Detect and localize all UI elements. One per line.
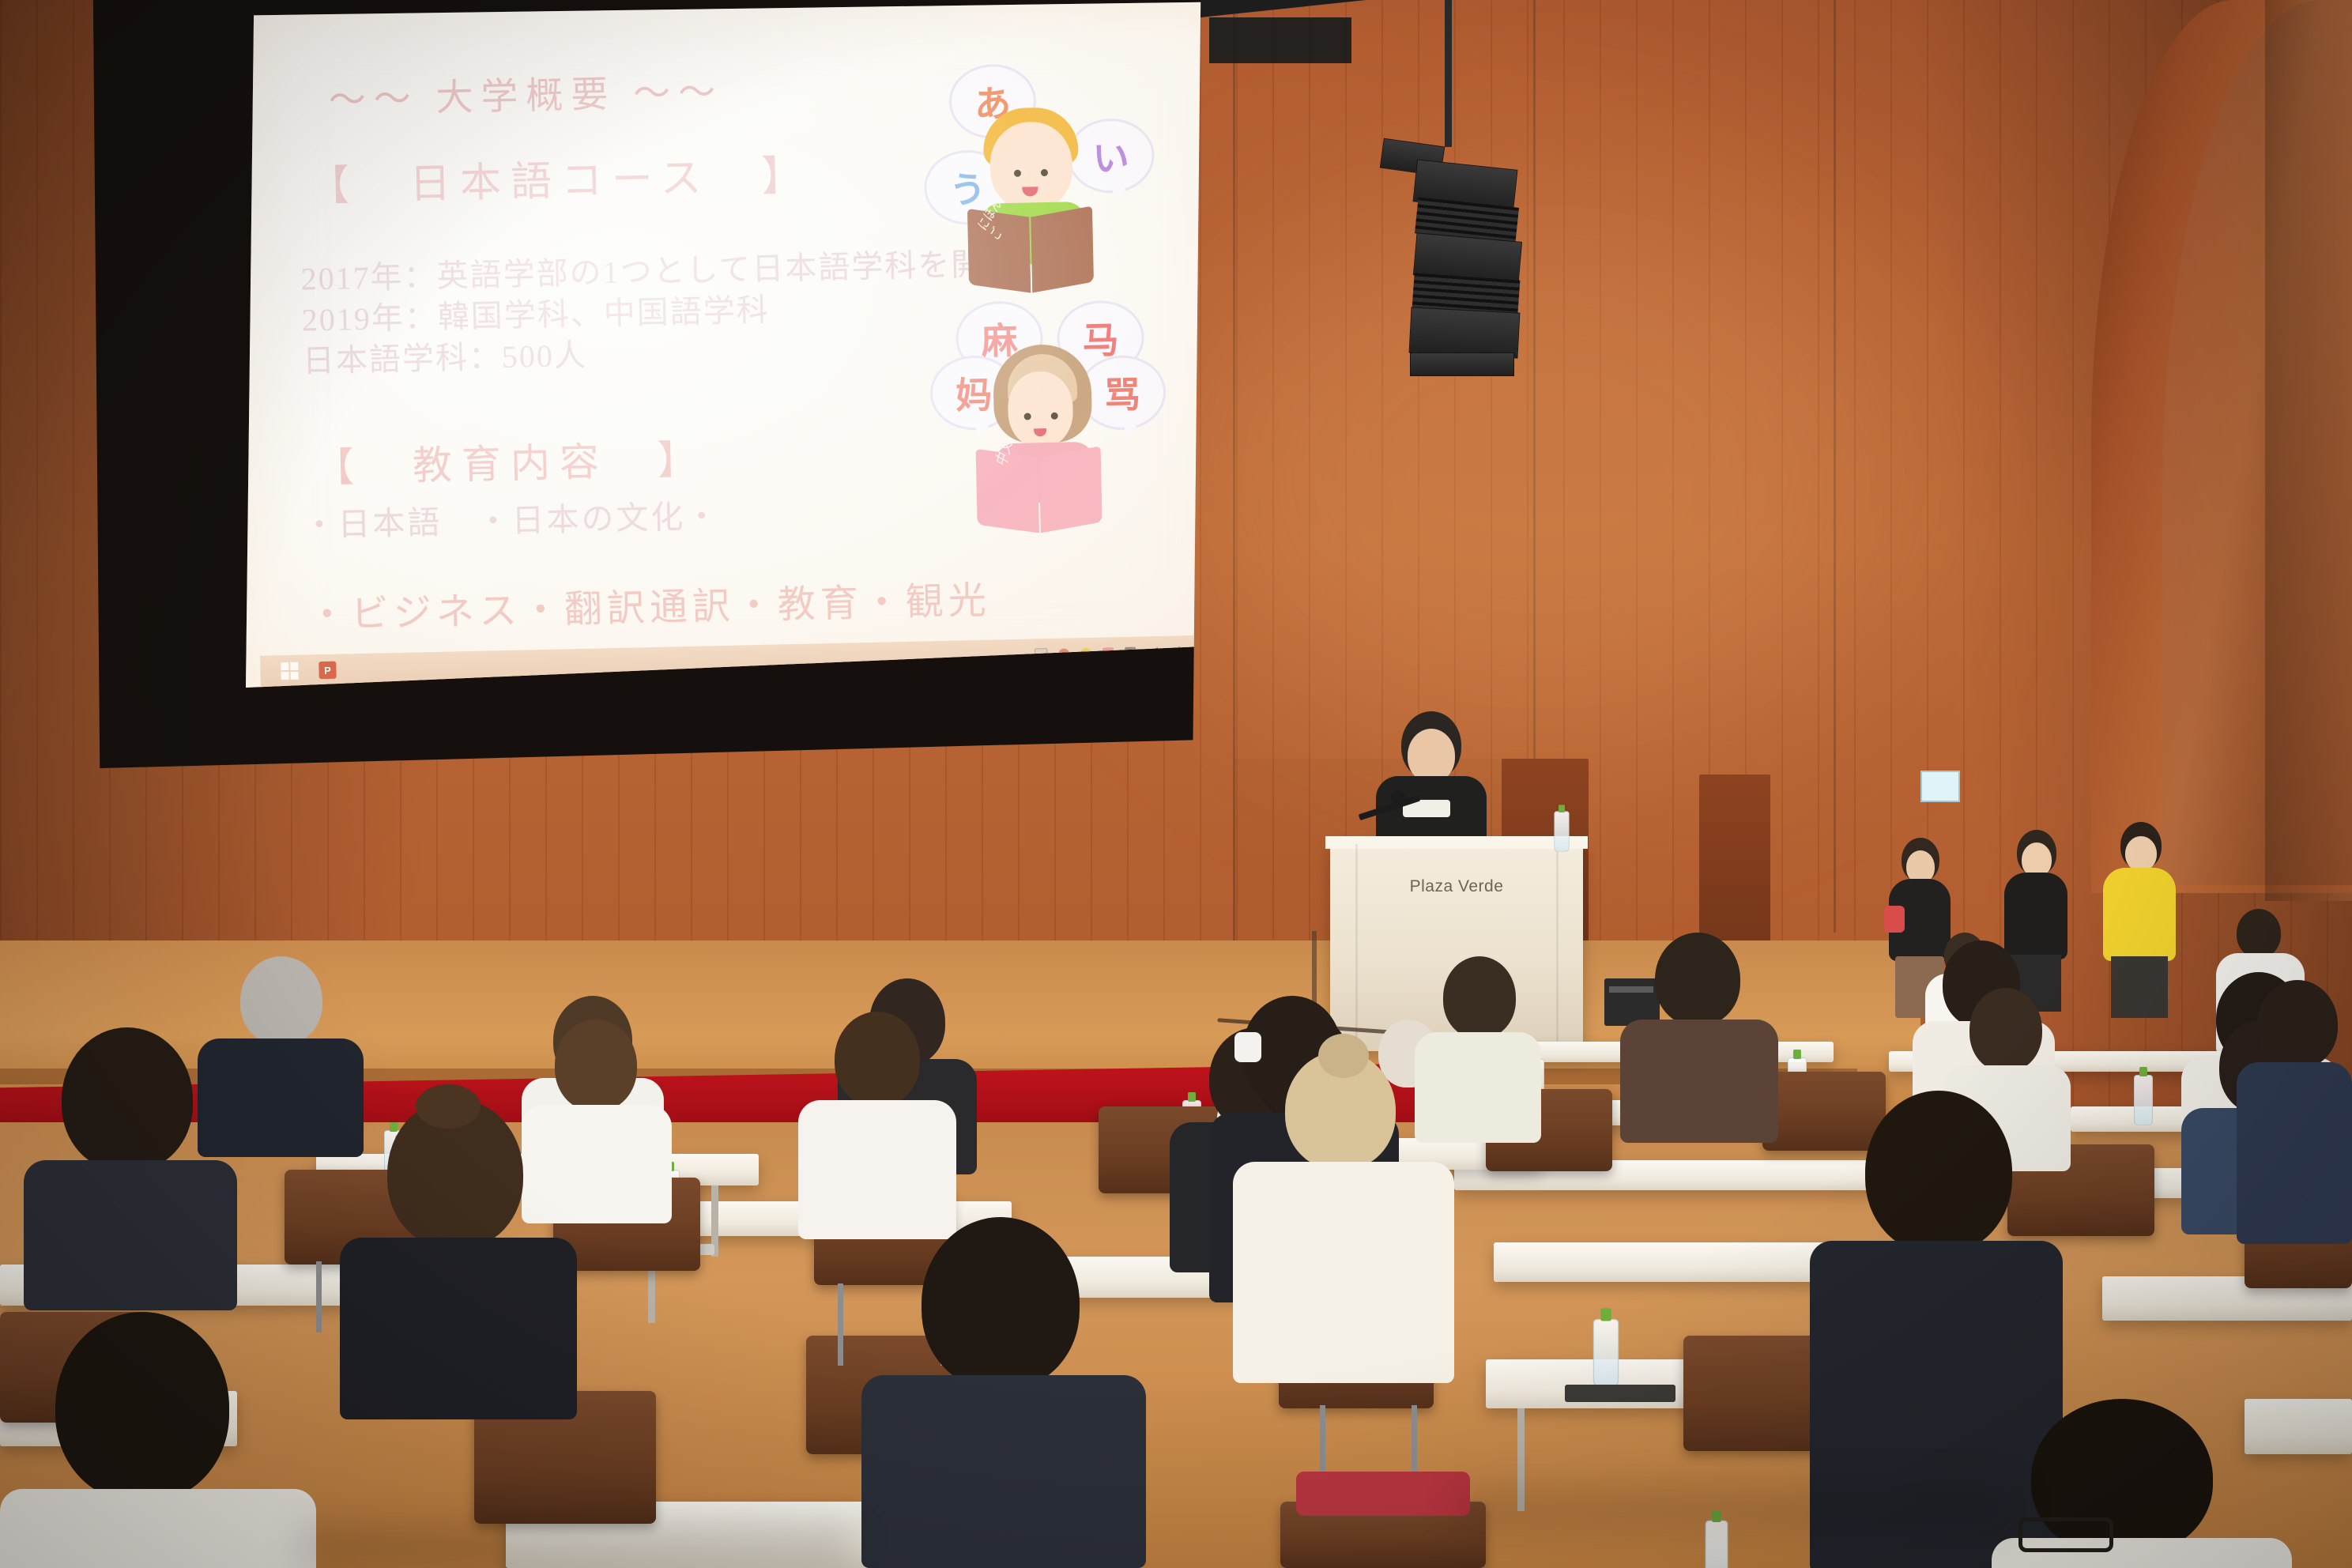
truss-block [1209, 17, 1351, 63]
legs [2111, 956, 2168, 1018]
eyeglasses [2018, 1517, 2113, 1552]
presenter [1371, 711, 1490, 854]
torso [24, 1160, 237, 1310]
wall-niche [1699, 775, 1770, 956]
slide-title: 〜〜 大学概要 〜〜 [328, 61, 724, 124]
projection-screen-frame: 〜〜 大学概要 〜〜 【 日本語コース 】 2017年：英語学部の1つとして日本… [91, 0, 1205, 771]
audience-member-foreground [24, 1027, 237, 1296]
line-array-speaker [1409, 307, 1521, 358]
book-page: にほんご [967, 209, 1031, 293]
volume-icon[interactable] [1169, 646, 1180, 657]
windows-logo-icon[interactable] [281, 662, 298, 680]
audience-member-foreground [1960, 1399, 2292, 1568]
book-page [1039, 446, 1102, 533]
head [2237, 909, 2281, 958]
ime-icon[interactable] [1080, 648, 1091, 659]
windows-taskbar[interactable]: P 14:32 2025/08/20 [260, 634, 1257, 687]
speaker-base [1410, 352, 1514, 376]
display-icon[interactable] [1125, 647, 1136, 658]
slide-body-line: 日本語学科：500人 [302, 330, 587, 382]
slide-highlight-line: ・ビジネス・翻訳通訳・教育・観光 [307, 569, 991, 639]
head [555, 1020, 637, 1111]
torso [340, 1238, 577, 1419]
illustration-book-japanese: にほんご [967, 211, 1094, 289]
folder [1565, 1385, 1675, 1402]
sound-muted-icon[interactable] [1058, 648, 1069, 659]
torso [1415, 1032, 1541, 1143]
lectern-groove [1556, 844, 1559, 1051]
head [2257, 980, 2338, 1069]
network-icon[interactable] [1147, 646, 1158, 658]
water-bottle [2134, 1075, 2153, 1125]
head [62, 1027, 193, 1171]
water-bottle [1554, 811, 1569, 851]
seat-cushion [1296, 1472, 1470, 1516]
presenter-face [1408, 729, 1455, 782]
powerpoint-slide: 〜〜 大学概要 〜〜 【 日本語コース 】 2017年：英語学部の1つとして日本… [246, 0, 1257, 688]
slide-bullets-line: ・日本語 ・日本の文化・ [303, 489, 721, 546]
torso [2103, 868, 2176, 961]
wall-seam [1834, 0, 1836, 933]
book-page [1031, 206, 1094, 293]
book-page: 中文 [976, 449, 1039, 533]
venue-sign: Plaza Verde [1330, 877, 1583, 896]
head [1655, 933, 1740, 1026]
speaker-suspension-rod [1445, 0, 1452, 147]
torso [2237, 1062, 2352, 1244]
curved-wall-shade [2265, 0, 2352, 901]
audience-member-foreground [340, 1099, 577, 1415]
exit-sign [1920, 771, 1960, 802]
audience-member [1620, 933, 1778, 1138]
audience-member [1415, 956, 1541, 1138]
powerpoint-icon[interactable]: P [318, 661, 336, 679]
chair-leg [838, 1283, 843, 1366]
floor-shadow [300, 1525, 854, 1568]
held-item [1884, 906, 1905, 933]
head [922, 1217, 1080, 1389]
head [1865, 1091, 2012, 1253]
slide-heading-curriculum: 【 教育内容 】 [314, 428, 707, 493]
illustration-book-chinese: 中文 [976, 451, 1102, 530]
face [2125, 836, 2157, 871]
lectern-top [1325, 836, 1588, 849]
hair-bun [1318, 1034, 1369, 1078]
audience-member [798, 1012, 956, 1233]
head [1969, 988, 2042, 1072]
audience-member-foreground [861, 1217, 1146, 1565]
torso [0, 1489, 316, 1568]
head [835, 1012, 920, 1106]
head [240, 956, 322, 1045]
microphone-head [1391, 790, 1405, 805]
staff-standing-yellow [2098, 822, 2180, 1020]
slide-heading-japanese-course: 【 日本語コース 】 [307, 141, 812, 212]
hair-bun [416, 1084, 481, 1129]
audience-member-foreground [0, 1312, 316, 1568]
usb-icon[interactable] [1035, 648, 1047, 661]
slide-illustration: あ い う にほんご [915, 60, 1186, 540]
torso [861, 1375, 1146, 1568]
head [55, 1312, 229, 1502]
water-bottle [1593, 1319, 1619, 1387]
audience-table [1494, 1242, 1834, 1282]
floor-shadow [1462, 1486, 2015, 1533]
projection-screen-surface: 〜〜 大学概要 〜〜 【 日本語コース 】 2017年：英語学部の1つとして日本… [246, 2, 1242, 688]
chair-leg [316, 1261, 322, 1332]
auditorium-scene: 〜〜 大学概要 〜〜 【 日本語コース 】 2017年：英語学部の1つとして日本… [0, 0, 2352, 1568]
audience-member [2237, 980, 2352, 1241]
head [1443, 956, 1516, 1038]
notepad-icon[interactable] [1102, 647, 1114, 658]
taskbar-left-group: P [260, 661, 336, 680]
torso [1233, 1162, 1454, 1383]
torso [1620, 1020, 1778, 1143]
